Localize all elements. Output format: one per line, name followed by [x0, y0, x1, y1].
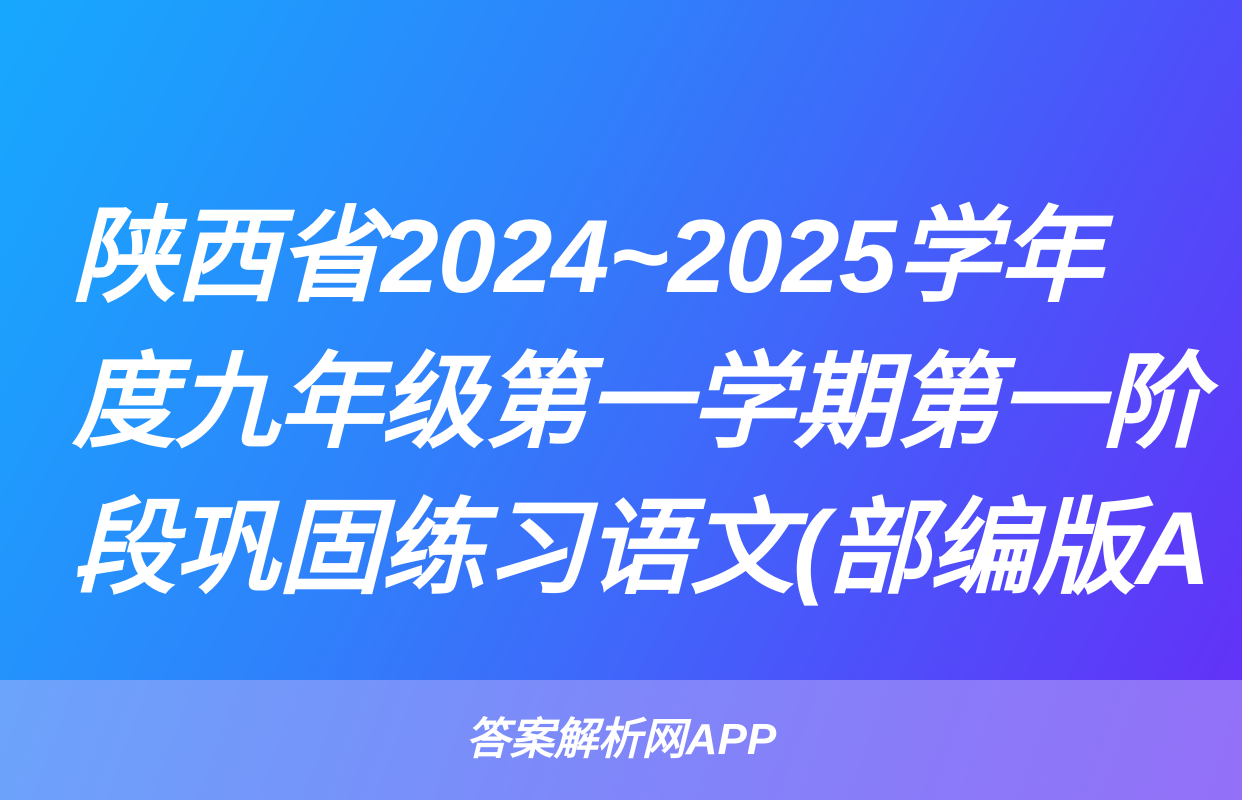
title-line-2: 度九年级第一学期第一阶 — [72, 330, 1242, 476]
footer-watermark-band: 答案解析网APP — [0, 680, 1242, 800]
app-watermark-label: 答案解析网APP — [466, 718, 776, 762]
page-title: 陕西省2024~2025学年 度九年级第一学期第一阶 段巩固练习语文(部编版A — [72, 184, 1242, 622]
hero-gradient-panel: 陕西省2024~2025学年 度九年级第一学期第一阶 段巩固练习语文(部编版A — [0, 0, 1242, 680]
exam-cover-card: 陕西省2024~2025学年 度九年级第一学期第一阶 段巩固练习语文(部编版A … — [0, 0, 1242, 800]
title-line-1: 陕西省2024~2025学年 — [72, 184, 1242, 330]
title-line-3: 段巩固练习语文(部编版A — [72, 476, 1242, 622]
